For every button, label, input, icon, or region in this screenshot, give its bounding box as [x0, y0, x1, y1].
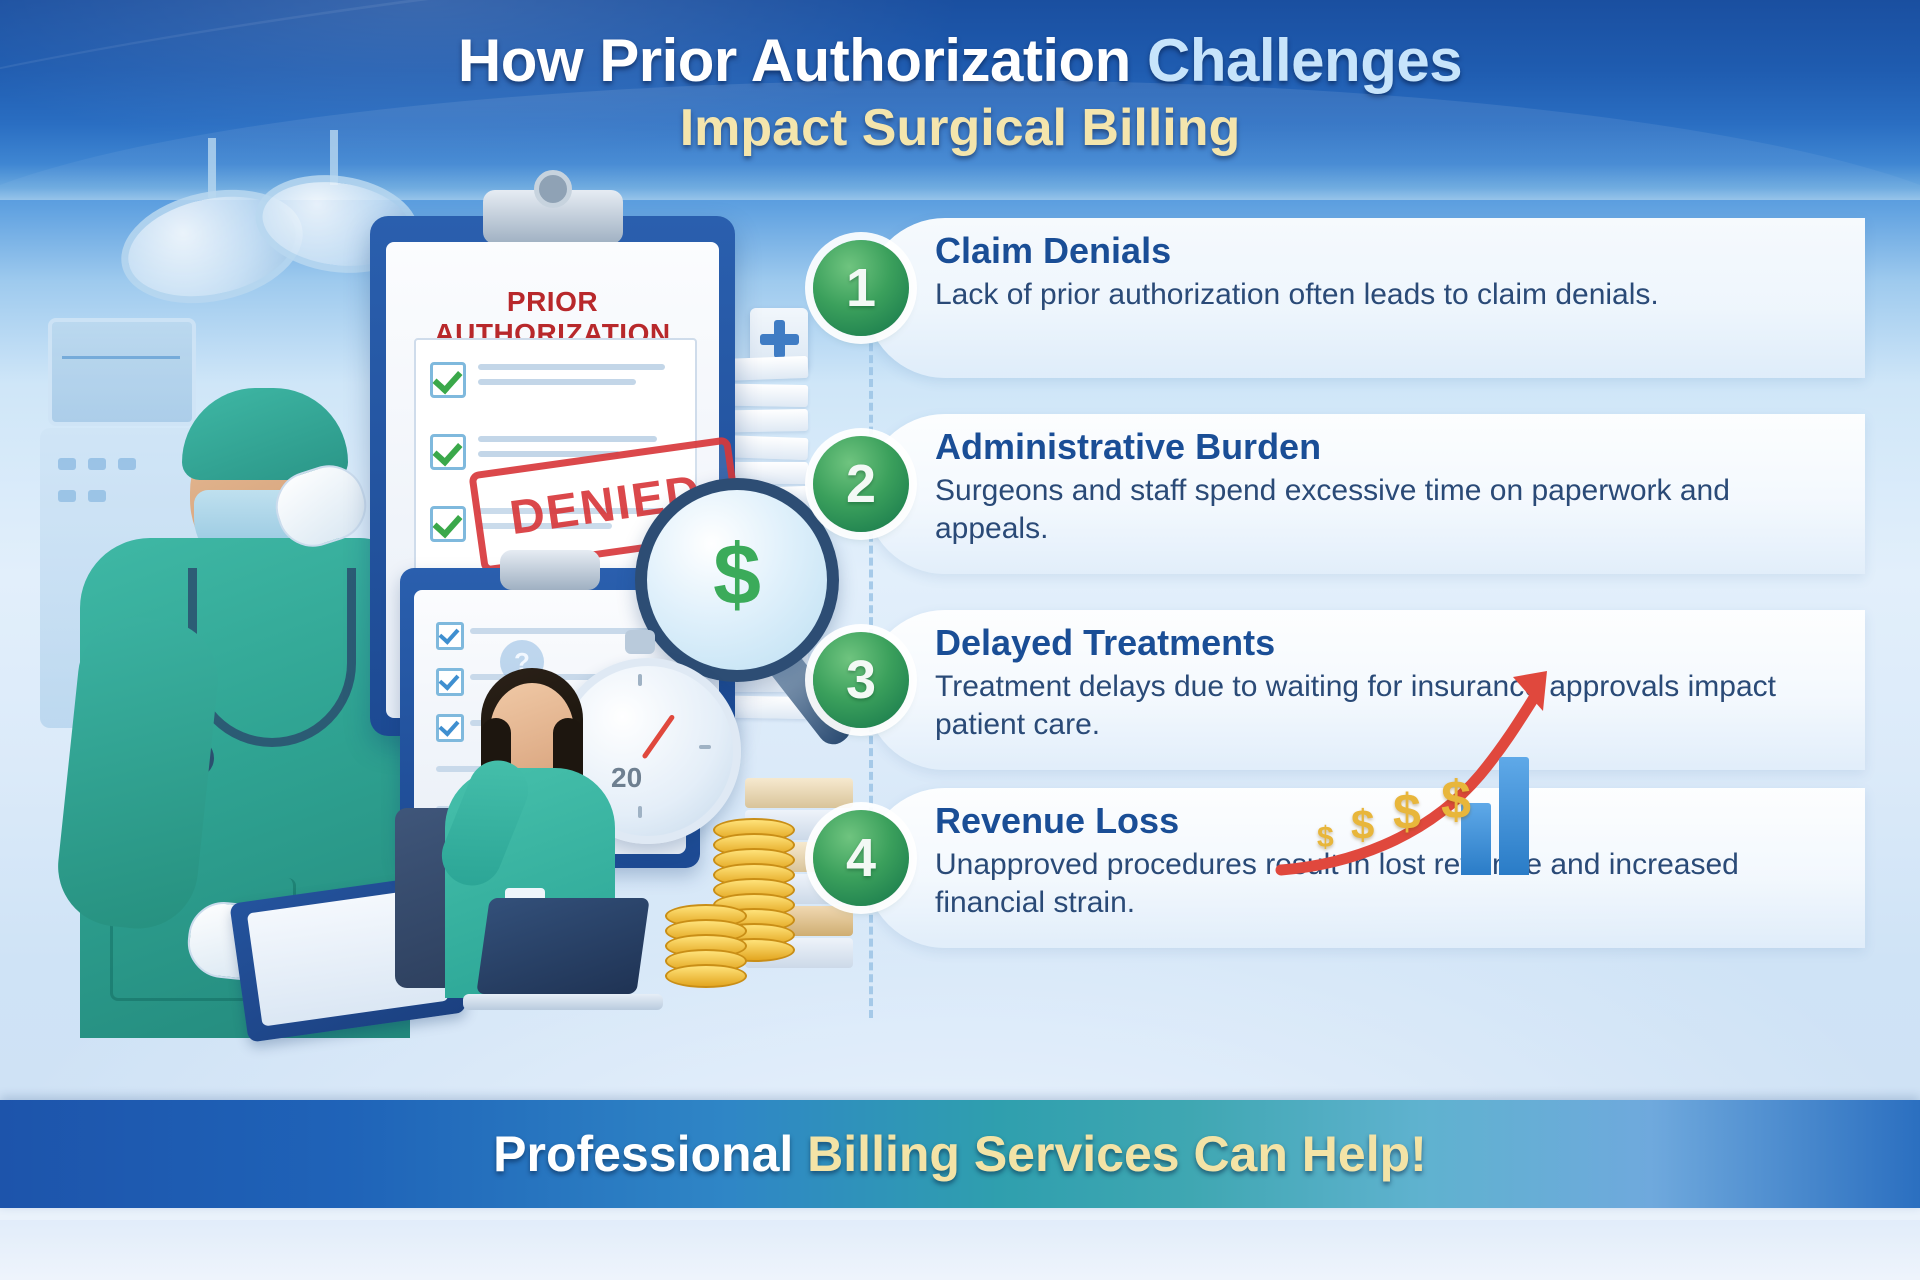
list-item-heading: Administrative Burden: [935, 426, 1321, 468]
stopwatch-tick: [699, 745, 711, 749]
list-item-number-badge: 2: [813, 436, 909, 532]
clipboard-ring-icon: [534, 170, 572, 208]
text-line: [478, 364, 665, 370]
title-white-part: How Prior Authorization: [458, 27, 1147, 94]
dollar-sign-icon: $: [1351, 801, 1374, 849]
footer-text-white: Professional: [493, 1126, 807, 1182]
checklist-row: [430, 354, 681, 412]
header-banner: How Prior Authorization Challenges Impac…: [0, 0, 1920, 200]
dollar-sign-icon: $: [1441, 769, 1471, 831]
infographic-poster: How Prior Authorization Challenges Impac…: [0, 0, 1920, 1280]
list-item-number-badge: 1: [813, 240, 909, 336]
checklist-lines: [478, 364, 681, 394]
title-highlight-part: Challenges: [1147, 27, 1462, 94]
list-item-heading: Delayed Treatments: [935, 622, 1275, 664]
clipboard-clamp-icon-2: [500, 550, 600, 590]
list-item-description: Surgeons and staff spend excessive time …: [935, 472, 1815, 549]
footer-banner: Professional Billing Services Can Help!: [0, 1100, 1920, 1208]
list-item-heading: Claim Denials: [935, 230, 1171, 272]
laptop-keyboard: [463, 994, 663, 1010]
chart-bar: [1499, 757, 1529, 875]
dollar-sign-icon: $: [1393, 783, 1421, 841]
checkbox-checked-icon: [430, 506, 466, 542]
text-line: [478, 379, 636, 385]
footer-text-yellow: Billing Services Can Help!: [807, 1126, 1427, 1182]
dollar-sign-icon: $: [1317, 821, 1334, 855]
list-item-heading: Revenue Loss: [935, 800, 1179, 842]
page-title-line-2: Impact Surgical Billing: [0, 98, 1920, 158]
footer-accent-strip: [0, 1206, 1920, 1220]
list-item[interactable]: 2 Administrative Burden Surgeons and sta…: [805, 414, 1865, 594]
list-item-description: Lack of prior authorization often leads …: [935, 276, 1815, 314]
laptop-icon: [463, 898, 653, 1018]
checkbox-checked-icon: [430, 362, 466, 398]
list-item-number-badge: 4: [813, 810, 909, 906]
footer-cta-text: Professional Billing Services Can Help!: [493, 1125, 1427, 1183]
text-line: [478, 436, 657, 442]
coin: [665, 964, 747, 988]
upward-trend-arrow-icon: [1275, 665, 1605, 895]
laptop-screen: [476, 898, 649, 994]
checkbox-checked-icon: [430, 434, 466, 470]
list-item-number-badge: 3: [813, 632, 909, 728]
checkbox-checked-icon: [436, 622, 464, 650]
challenges-list: 1 Claim Denials Lack of prior authorizat…: [795, 218, 1900, 1078]
nurse-illustration: ?: [395, 648, 675, 998]
list-item[interactable]: 1 Claim Denials Lack of prior authorizat…: [805, 218, 1865, 398]
lamp-stem-icon: [208, 138, 216, 198]
growth-chart-illustration: $ $ $ $: [1275, 665, 1605, 895]
page-title-line-1: How Prior Authorization Challenges: [0, 26, 1920, 95]
